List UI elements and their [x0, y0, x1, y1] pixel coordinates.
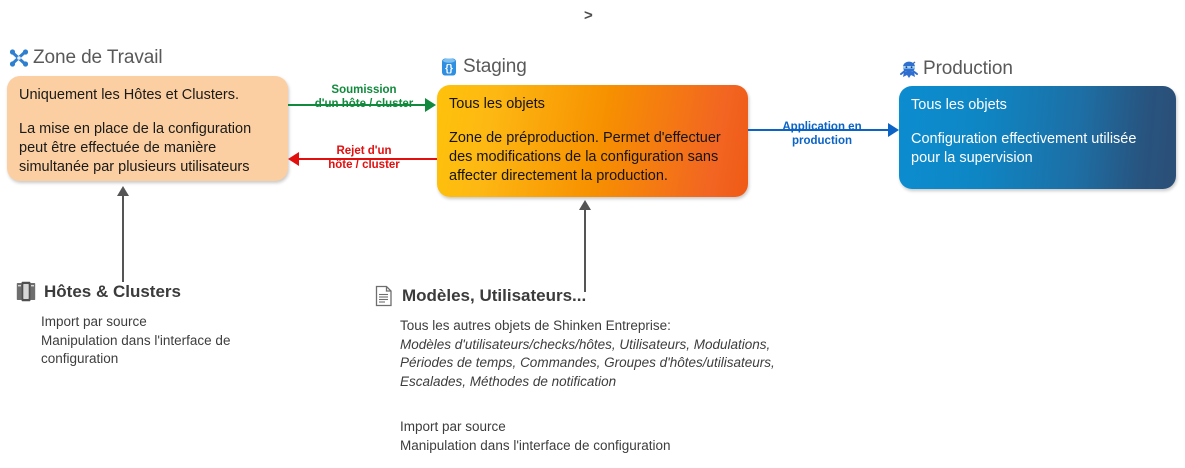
models-footer-line2: Manipulation dans l'interface de configu…: [400, 437, 820, 456]
hosts-description: Import par source Manipulation dans l'in…: [41, 313, 291, 369]
production-box: Tous les objets Configuration effectivem…: [899, 86, 1176, 189]
production-box-line1: Tous les objets: [911, 96, 1164, 115]
document-icon: [374, 285, 394, 307]
hosts-text-line2: Manipulation dans l'interface de: [41, 332, 291, 351]
server-rack-icon: [16, 281, 36, 303]
arrow-models-to-staging-head: [579, 200, 591, 210]
section-title-production: Production: [923, 58, 1013, 80]
arrow-hosts-to-work: [115, 186, 131, 282]
staging-box-line1: Tous les objets: [449, 95, 736, 114]
arrow-apply-production-label: Application en production: [755, 121, 889, 149]
arrow-apply-production-head: [888, 123, 899, 137]
arrow-submission-label-line2: d'un hôte / cluster: [296, 98, 432, 112]
models-italic-line2: Périodes de temps, Commandes, Groupes d'…: [400, 354, 820, 373]
models-intro: Tous les autres objets de Shinken Entrep…: [400, 317, 820, 336]
hosts-text-line1: Import par source: [41, 313, 291, 332]
production-box-line2: Configuration effectivement utilisée pou…: [911, 130, 1164, 168]
models-description: Tous les autres objets de Shinken Entrep…: [400, 317, 820, 392]
arrow-submission-label-line1: Soumission: [296, 84, 432, 98]
diagram-canvas: > Zone de Travail Uniquement les Hôtes e…: [0, 0, 1185, 468]
section-title-hosts: Hôtes & Clusters: [44, 282, 181, 302]
staging-box: Tous les objets Zone de préproduction. P…: [437, 85, 748, 197]
section-header-work: Zone de Travail: [8, 47, 162, 69]
ninja-icon: [898, 58, 920, 80]
arrow-apply-production-label-line1: Application en: [755, 121, 889, 135]
work-box-line1: Uniquement les Hôtes et Clusters.: [19, 86, 276, 105]
work-zone-box: Uniquement les Hôtes et Clusters. La mis…: [7, 76, 288, 181]
section-header-hosts: Hôtes & Clusters: [16, 281, 181, 303]
section-title-work: Zone de Travail: [33, 47, 162, 69]
work-box-line2: La mise en place de la configuration peu…: [19, 120, 276, 177]
arrow-submission-label: Soumission d'un hôte / cluster: [296, 84, 432, 112]
section-title-staging: Staging: [463, 56, 527, 78]
hosts-text-line3: configuration: [41, 350, 291, 369]
arrow-models-to-staging-shaft: [584, 208, 587, 292]
models-italic-line3: Escalades, Méthodes de notification: [400, 373, 820, 392]
arrow-hosts-to-work-shaft: [122, 194, 125, 282]
staging-box-line2: Zone de préproduction. Permet d'effectue…: [449, 129, 736, 186]
svg-text:{}: {}: [445, 64, 453, 75]
section-header-staging: {} Staging: [438, 56, 527, 78]
database-braces-icon: {}: [438, 56, 460, 78]
tools-icon: [8, 47, 30, 69]
section-header-production: Production: [898, 58, 1013, 80]
top-chevron-marker: >: [584, 8, 593, 23]
models-italic-line1: Modèles d'utilisateurs/checks/hôtes, Uti…: [400, 336, 820, 355]
models-footer: Import par source Manipulation dans l'in…: [400, 418, 820, 455]
section-header-models: Modèles, Utilisateurs...: [374, 285, 586, 307]
arrow-rejection-label: Rejet d'un hôte / cluster: [296, 145, 432, 173]
models-footer-line1: Import par source: [400, 418, 820, 437]
section-title-models: Modèles, Utilisateurs...: [402, 286, 586, 306]
arrow-models-to-staging: [577, 200, 593, 292]
arrow-rejection-label-line1: Rejet d'un: [296, 145, 432, 159]
arrow-hosts-to-work-head: [117, 186, 129, 196]
arrow-apply-production-label-line2: production: [755, 135, 889, 149]
arrow-rejection-label-line2: hôte / cluster: [296, 159, 432, 173]
